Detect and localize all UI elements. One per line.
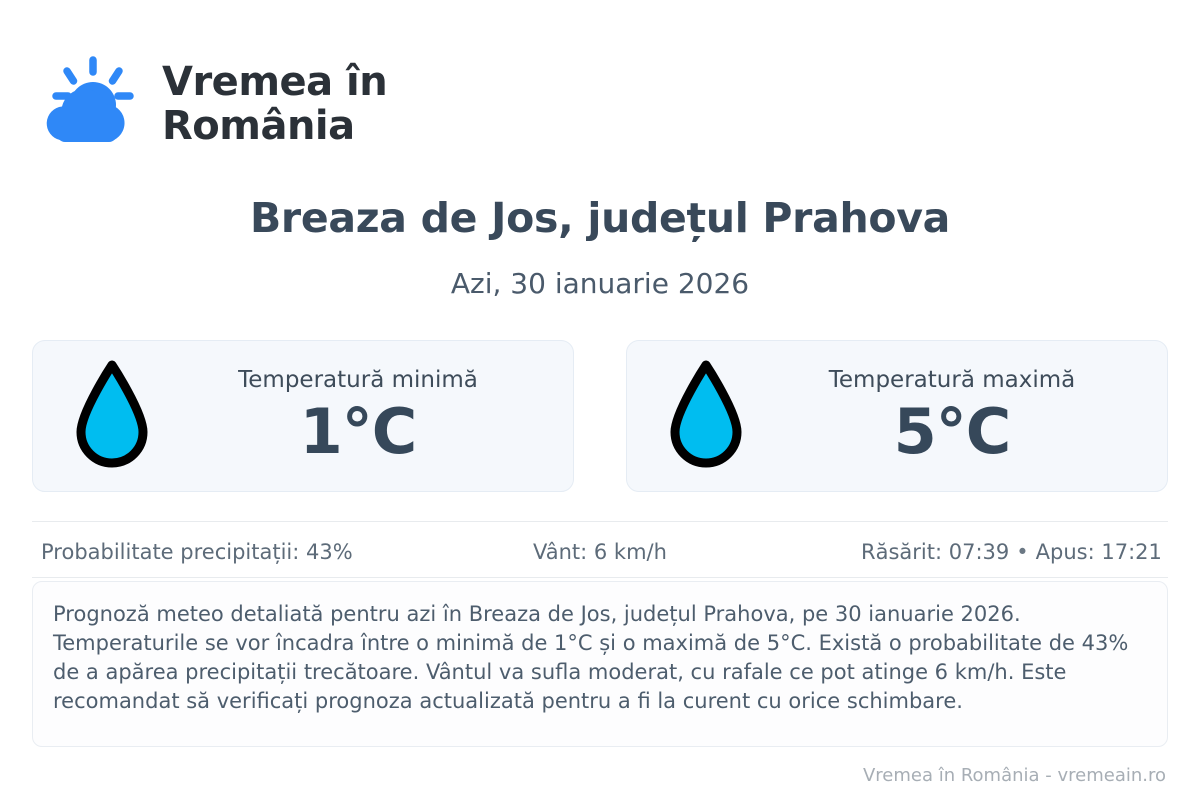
water-drop-icon xyxy=(73,360,151,472)
max-temperature-card: Temperatură maximă 5°C xyxy=(626,340,1168,492)
page-title: Breaza de Jos, județul Prahova xyxy=(0,190,1200,246)
forecast-description-box: Prognoză meteo detaliată pentru azi în B… xyxy=(32,581,1168,747)
sun-times-separator: • xyxy=(1009,540,1035,564)
temperature-cards: Temperatură minimă 1°C Temperatură maxim… xyxy=(32,340,1168,492)
min-temperature-label: Temperatură minimă xyxy=(238,365,478,395)
weather-stats-row: Probabilitate precipitații: 43% Vânt: 6 … xyxy=(32,534,1168,570)
brand-header: Vremea în România xyxy=(36,52,387,156)
min-temperature-card: Temperatură minimă 1°C xyxy=(32,340,574,492)
footer-credit: Vremea în România - vremeain.ro xyxy=(863,764,1166,788)
wind-stat: Vânt: 6 km/h xyxy=(411,537,790,567)
water-drop-icon xyxy=(667,360,745,472)
page-subtitle: Azi, 30 ianuarie 2026 xyxy=(0,264,1200,304)
weather-page: Vremea în România Breaza de Jos, județul… xyxy=(0,0,1200,800)
sunrise-value: Răsărit: 07:39 xyxy=(861,540,1009,564)
sun-times-stat: Răsărit: 07:39•Apus: 17:21 xyxy=(789,537,1168,567)
sunset-value: Apus: 17:21 xyxy=(1036,540,1162,564)
divider-below-stats xyxy=(32,577,1168,578)
forecast-description-text: Prognoză meteo detaliată pentru azi în B… xyxy=(53,600,1141,716)
sun-behind-cloud-icon xyxy=(36,52,140,156)
max-temperature-label: Temperatură maximă xyxy=(829,365,1075,395)
precipitation-stat: Probabilitate precipitații: 43% xyxy=(32,537,411,567)
divider-above-stats xyxy=(32,521,1168,522)
min-temperature-value: 1°C xyxy=(300,397,417,467)
max-temperature-body: Temperatură maximă 5°C xyxy=(745,365,1153,467)
brand-name: Vremea în România xyxy=(162,60,387,148)
min-temperature-body: Temperatură minimă 1°C xyxy=(151,365,559,467)
max-temperature-value: 5°C xyxy=(894,397,1011,467)
